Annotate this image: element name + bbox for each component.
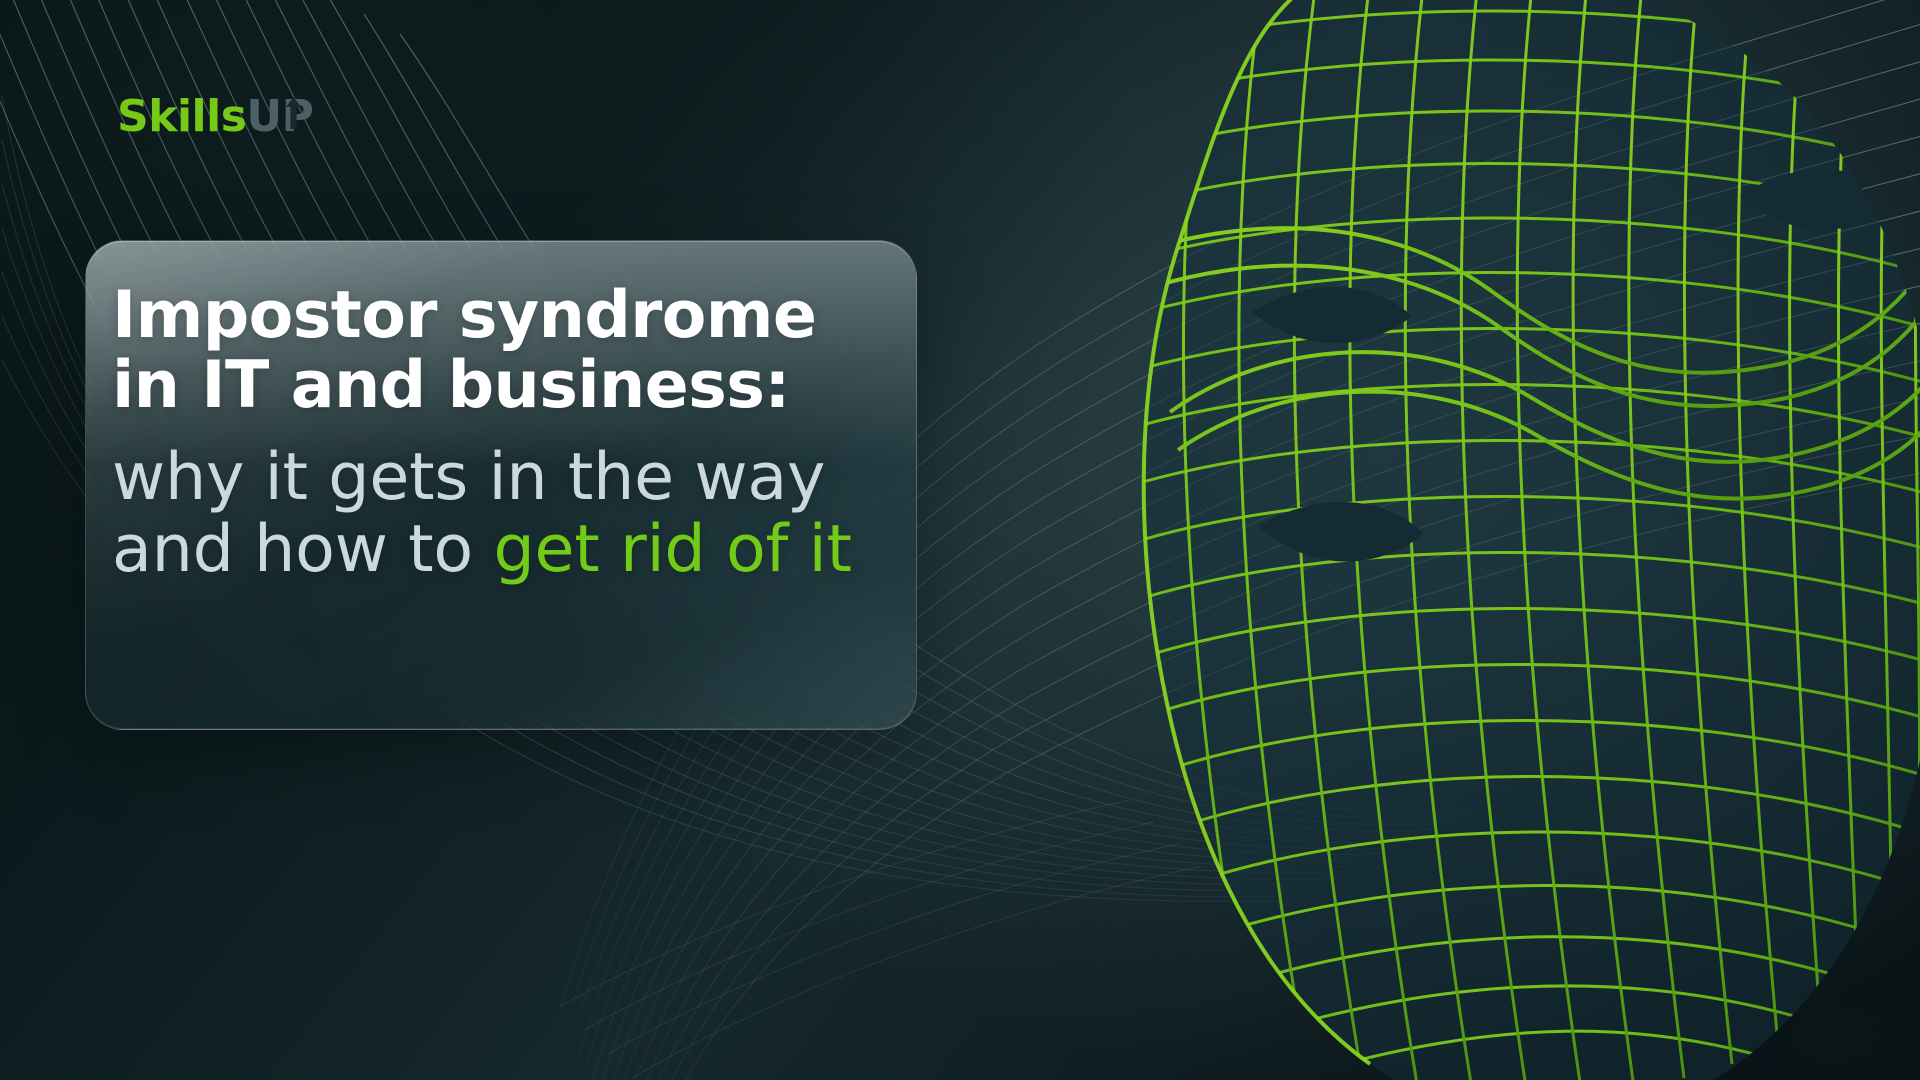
headline-accent-text: get rid of it (493, 512, 851, 587)
skillsup-logo[interactable]: Skills UP (117, 95, 313, 139)
banner-canvas: Skills UP Impostor syndrome in IT and bu… (0, 0, 1920, 1080)
headline-line-3: why it gets in the way (112, 444, 932, 512)
logo-up-wrap: UP (246, 95, 313, 139)
headline-line-4: and how to get rid of it (112, 516, 932, 584)
headline-line-4-prefix: and how to (112, 512, 493, 587)
headline-block: Impostor syndrome in IT and business: wh… (112, 282, 932, 584)
logo-up-text: UP (246, 91, 313, 142)
headline-line-1: Impostor syndrome (112, 282, 932, 350)
logo-skills-text: Skills (117, 95, 246, 139)
headline-line-2: in IT and business: (112, 352, 932, 420)
arrow-up-icon (285, 97, 302, 129)
wireframe-head-mesh-icon (1020, 0, 1920, 1080)
